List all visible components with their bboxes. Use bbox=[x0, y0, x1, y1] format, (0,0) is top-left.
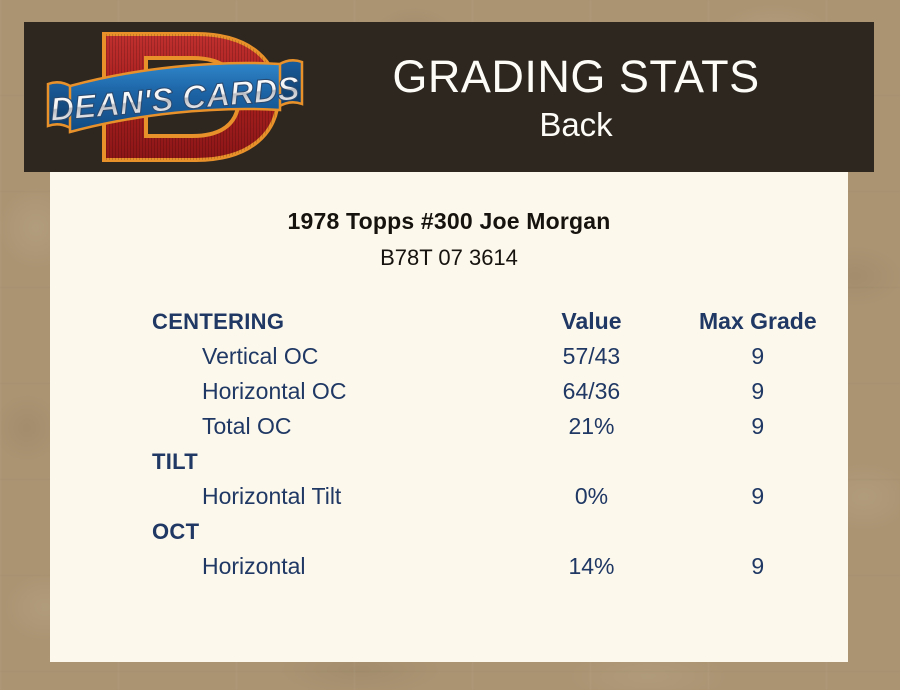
grading-stats-table: CENTERING Value Max Grade Vertical OC 57… bbox=[50, 304, 848, 584]
page-title: GRADING STATS bbox=[304, 54, 848, 99]
section-heading-centering: CENTERING bbox=[50, 304, 515, 339]
logo-artwork: DEAN'S CARDS bbox=[46, 24, 304, 170]
table-header-row: CENTERING Value Max Grade bbox=[50, 304, 848, 339]
table-row: Total OC 21% 9 bbox=[50, 409, 848, 444]
card-serial-number: B78T 07 3614 bbox=[50, 245, 848, 271]
column-header-value: Value bbox=[515, 304, 667, 339]
row-max-grade: 9 bbox=[668, 374, 848, 409]
row-value: 64/36 bbox=[515, 374, 667, 409]
section-heading-oct: OCT bbox=[50, 514, 515, 549]
section-spacer bbox=[515, 514, 667, 549]
header-bar: DEAN'S CARDS GRADING STATS Back bbox=[24, 22, 874, 172]
row-max-grade: 9 bbox=[668, 479, 848, 514]
table-row: Horizontal Tilt 0% 9 bbox=[50, 479, 848, 514]
section-spacer bbox=[668, 444, 848, 479]
page-subtitle: Back bbox=[304, 108, 848, 141]
row-value: 14% bbox=[515, 549, 667, 584]
section-heading-tilt: TILT bbox=[50, 444, 515, 479]
row-label: Horizontal Tilt bbox=[50, 479, 515, 514]
row-max-grade: 9 bbox=[668, 549, 848, 584]
row-label: Total OC bbox=[50, 409, 515, 444]
section-spacer bbox=[515, 444, 667, 479]
row-max-grade: 9 bbox=[668, 339, 848, 374]
section-spacer bbox=[668, 514, 848, 549]
card-title: 1978 Topps #300 Joe Morgan bbox=[50, 208, 848, 235]
row-value: 21% bbox=[515, 409, 667, 444]
table-row: Horizontal 14% 9 bbox=[50, 549, 848, 584]
header-title-block: GRADING STATS Back bbox=[304, 54, 874, 141]
row-label: Vertical OC bbox=[50, 339, 515, 374]
grading-stats-body: CENTERING Value Max Grade Vertical OC 57… bbox=[50, 304, 848, 584]
row-value: 57/43 bbox=[515, 339, 667, 374]
section-row-tilt: TILT bbox=[50, 444, 848, 479]
table-row: Vertical OC 57/43 9 bbox=[50, 339, 848, 374]
content-panel: 1978 Topps #300 Joe Morgan B78T 07 3614 … bbox=[50, 172, 848, 662]
deans-cards-logo: DEAN'S CARDS bbox=[46, 24, 304, 170]
table-row: Horizontal OC 64/36 9 bbox=[50, 374, 848, 409]
section-row-oct: OCT bbox=[50, 514, 848, 549]
row-max-grade: 9 bbox=[668, 409, 848, 444]
row-value: 0% bbox=[515, 479, 667, 514]
row-label: Horizontal OC bbox=[50, 374, 515, 409]
column-header-max-grade: Max Grade bbox=[668, 304, 848, 339]
row-label: Horizontal bbox=[50, 549, 515, 584]
